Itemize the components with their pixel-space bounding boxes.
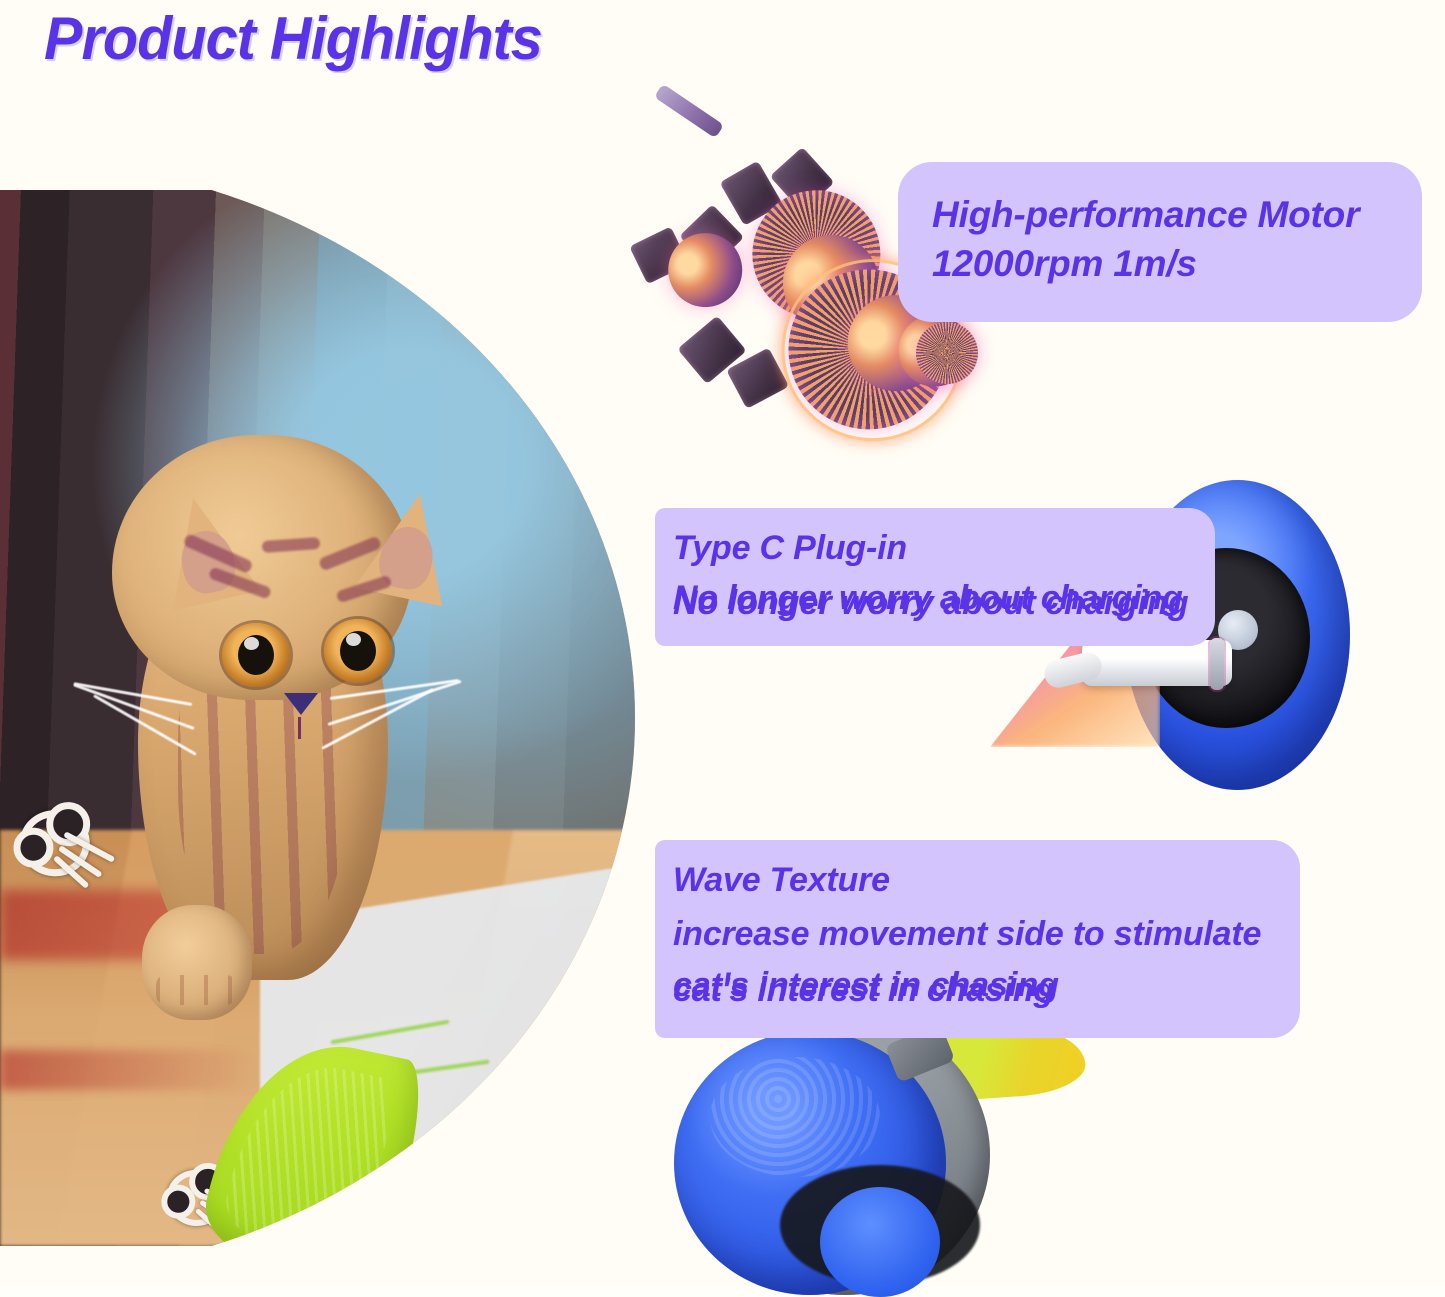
ball-blue-sphere [350,1202,564,1246]
cat-stripe [262,537,321,553]
callout-motor-specs: 12000rpm 1m/s [932,238,1422,290]
hero-photo [0,190,660,1246]
wave-texture-ball-image [660,1005,1080,1295]
callout-high-performance-motor: High-performance Motor 12000rpm 1m/s [898,162,1422,322]
cat-paw [142,905,252,1020]
cat-mouth [298,717,301,739]
callout-wave-subtitle-2: cat's interest in chasing [673,962,1300,1018]
motor-shaft [654,84,724,139]
usb-c-connector-tip [1210,638,1224,690]
wave-ball-face [820,1187,940,1297]
hero-photo-clip [0,190,660,1246]
callout-motor-title: High-performance Motor [932,192,1422,238]
rolling-ball-in-photo [310,1190,572,1246]
callout-wave-texture: Wave Texture increase movement side to s… [655,840,1300,1038]
callout-wave-title: Wave Texture [673,854,1300,906]
page-title: Product Highlights [44,4,542,73]
cat-illustration [60,295,480,995]
cat-nose [284,693,318,715]
callout-wave-subtitle-1: increase movement side to stimulate [673,906,1300,962]
cat-head [112,435,412,700]
ball-outer-ring [310,1190,572,1246]
poster-canvas: Product Highlights [0,0,1445,1286]
callout-typec-subtitle: No longer worry about charging [673,572,1215,624]
cat-eye-right [324,619,392,683]
dust-puff-icon [18,802,115,880]
cat-eye-left [222,623,290,687]
photo-floor-red-streak-2 [0,1050,260,1090]
callout-type-c-plug-in: Type C Plug-in No longer worry about cha… [655,508,1215,646]
callout-typec-title: Type C Plug-in [673,524,1215,572]
